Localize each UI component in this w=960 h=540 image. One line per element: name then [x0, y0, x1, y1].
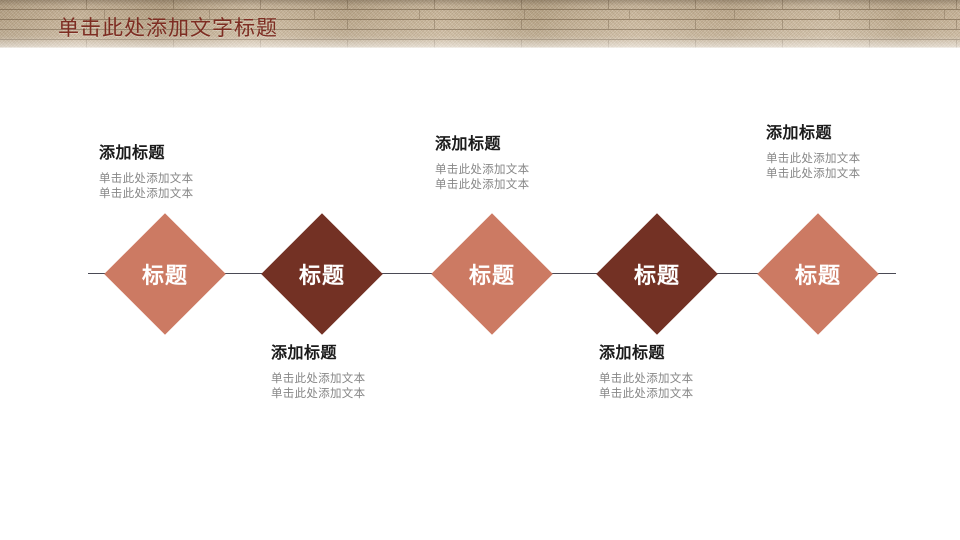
- page-title[interactable]: 单击此处添加文字标题: [58, 12, 278, 42]
- caption-node-5-line-1[interactable]: 单击此处添加文本: [766, 152, 860, 167]
- diamond-node-5-label: 标题: [775, 231, 861, 317]
- diamond-node-4-label: 标题: [614, 231, 700, 317]
- diamond-node-3[interactable]: 标题: [431, 213, 553, 335]
- caption-node-1: 添加标题 单击此处添加文本 单击此处添加文本: [99, 139, 193, 202]
- slide-canvas: 单击此处添加文字标题 标题 添加标题 单击此处添加文本 单击此处添加文本 标题 …: [0, 0, 960, 540]
- diamond-node-2-label: 标题: [279, 231, 365, 317]
- diamond-node-5[interactable]: 标题: [757, 213, 879, 335]
- caption-node-5-line-2[interactable]: 单击此处添加文本: [766, 167, 860, 182]
- caption-node-3-line-2[interactable]: 单击此处添加文本: [435, 178, 529, 193]
- caption-node-3-line-1[interactable]: 单击此处添加文本: [435, 163, 529, 178]
- caption-node-4-line-2[interactable]: 单击此处添加文本: [599, 387, 693, 402]
- caption-node-1-line-2[interactable]: 单击此处添加文本: [99, 187, 193, 202]
- diamond-node-4[interactable]: 标题: [596, 213, 718, 335]
- caption-node-2-line-2[interactable]: 单击此处添加文本: [271, 387, 365, 402]
- diamond-node-1-label: 标题: [122, 231, 208, 317]
- diamond-node-1[interactable]: 标题: [104, 213, 226, 335]
- caption-node-5: 添加标题 单击此处添加文本 单击此处添加文本: [766, 119, 860, 182]
- caption-node-1-title[interactable]: 添加标题: [99, 139, 193, 163]
- caption-node-1-line-1[interactable]: 单击此处添加文本: [99, 172, 193, 187]
- diamond-node-2[interactable]: 标题: [261, 213, 383, 335]
- caption-node-5-title[interactable]: 添加标题: [766, 119, 860, 143]
- caption-node-4-title[interactable]: 添加标题: [599, 339, 693, 363]
- caption-node-3-title[interactable]: 添加标题: [435, 130, 529, 154]
- caption-node-4: 添加标题 单击此处添加文本 单击此处添加文本: [599, 339, 693, 402]
- caption-node-2-line-1[interactable]: 单击此处添加文本: [271, 372, 365, 387]
- caption-node-3: 添加标题 单击此处添加文本 单击此处添加文本: [435, 130, 529, 193]
- caption-node-2: 添加标题 单击此处添加文本 单击此处添加文本: [271, 339, 365, 402]
- caption-node-4-line-1[interactable]: 单击此处添加文本: [599, 372, 693, 387]
- diamond-node-3-label: 标题: [449, 231, 535, 317]
- caption-node-2-title[interactable]: 添加标题: [271, 339, 365, 363]
